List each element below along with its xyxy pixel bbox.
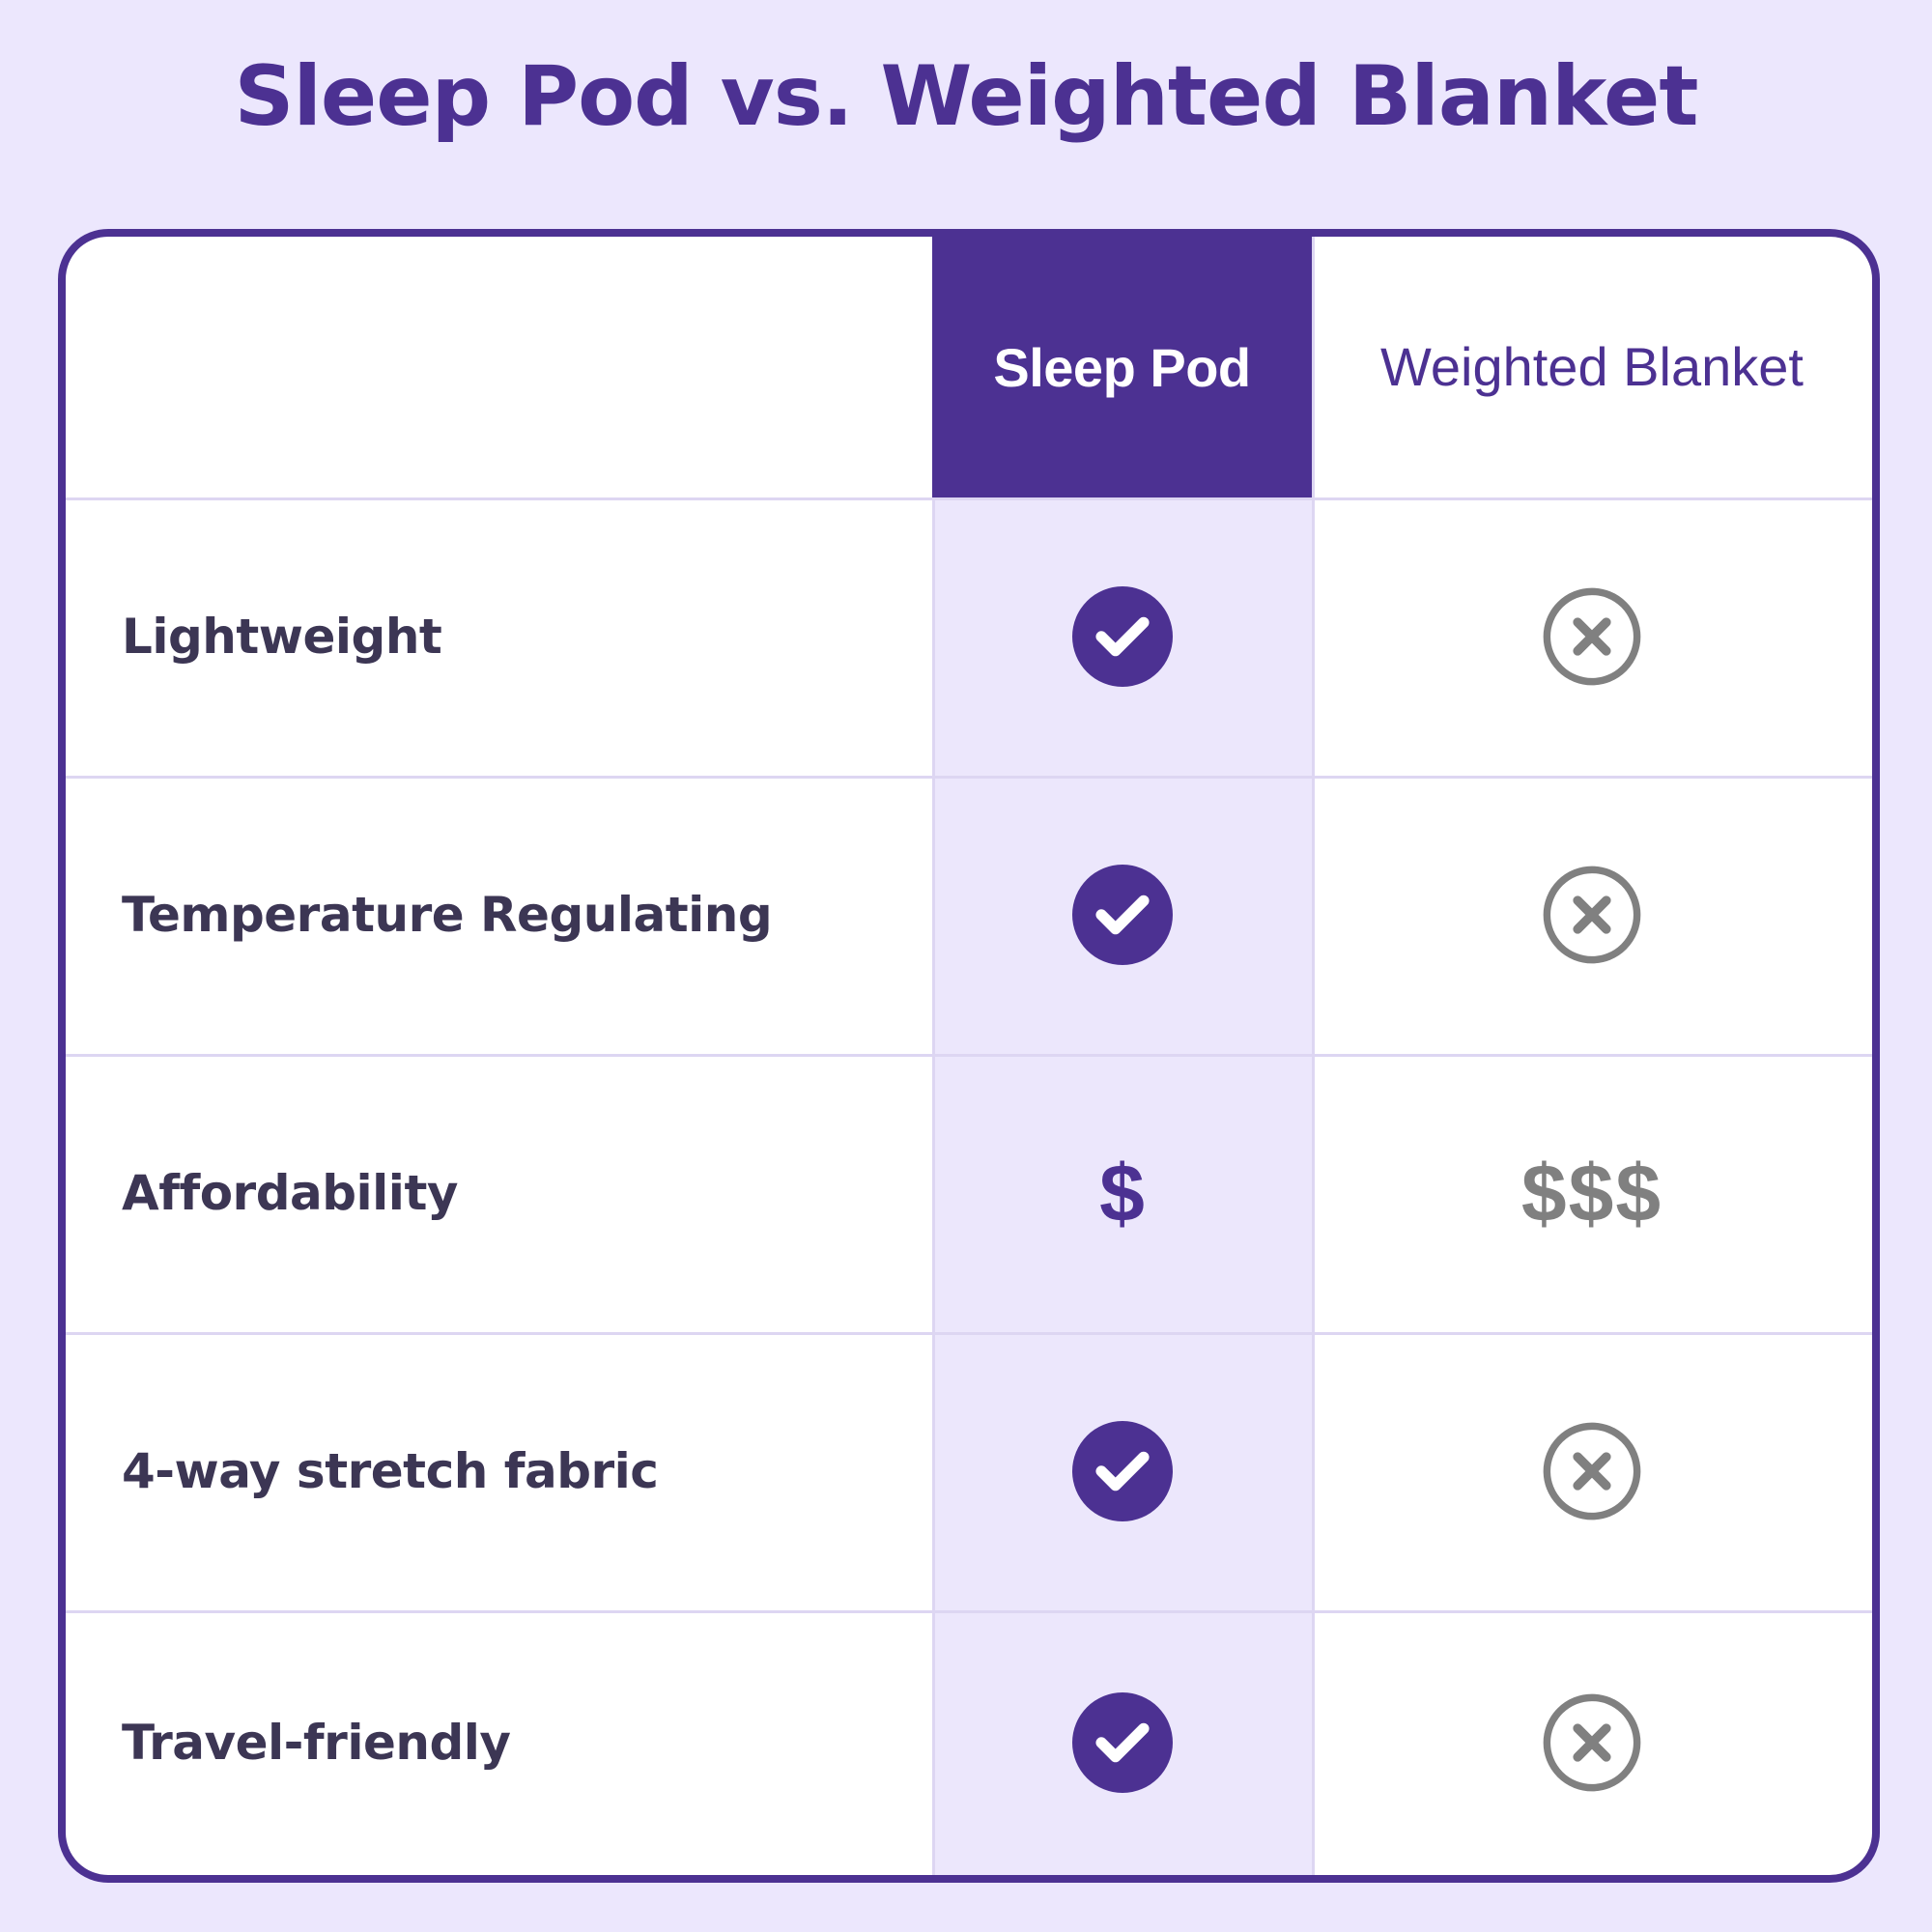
cell-weighted-blanket bbox=[1312, 497, 1872, 776]
cell-sleep-pod bbox=[932, 497, 1312, 776]
cell-sleep-pod bbox=[932, 776, 1312, 1054]
x-circle-outline-icon bbox=[1541, 864, 1643, 966]
price-indicator-weighted-blanket: $$$ bbox=[1521, 1147, 1662, 1240]
comparison-table: Sleep Pod Weighted Blanket Lightweight bbox=[58, 229, 1880, 1883]
cell-sleep-pod bbox=[932, 1610, 1312, 1875]
check-circle-filled-icon bbox=[1072, 586, 1173, 687]
feature-label: 4-way stretch fabric bbox=[66, 1332, 932, 1610]
column-header-weighted-blanket: Weighted Blanket bbox=[1312, 237, 1872, 497]
cell-weighted-blanket bbox=[1312, 1610, 1872, 1875]
column-header-sleep-pod: Sleep Pod bbox=[932, 237, 1312, 497]
table-grid: Sleep Pod Weighted Blanket Lightweight bbox=[66, 237, 1872, 1875]
comparison-infographic: Sleep Pod vs. Weighted Blanket Sleep Pod… bbox=[0, 0, 1932, 1932]
cell-sleep-pod bbox=[932, 1332, 1312, 1610]
feature-label: Affordability bbox=[66, 1054, 932, 1332]
cell-sleep-pod: $ bbox=[932, 1054, 1312, 1332]
cell-weighted-blanket bbox=[1312, 1332, 1872, 1610]
feature-label: Temperature Regulating bbox=[66, 776, 932, 1054]
cell-weighted-blanket bbox=[1312, 776, 1872, 1054]
feature-label: Lightweight bbox=[66, 497, 932, 776]
feature-label: Travel-friendly bbox=[66, 1610, 932, 1875]
x-circle-outline-icon bbox=[1541, 585, 1643, 688]
x-circle-outline-icon bbox=[1541, 1420, 1643, 1522]
check-circle-filled-icon bbox=[1072, 1692, 1173, 1793]
table-cells: Sleep Pod Weighted Blanket Lightweight bbox=[66, 237, 1872, 1875]
check-circle-filled-icon bbox=[1072, 865, 1173, 965]
price-indicator-sleep-pod: $ bbox=[1099, 1147, 1145, 1240]
page-title: Sleep Pod vs. Weighted Blanket bbox=[0, 39, 1932, 155]
cell-weighted-blanket: $$$ bbox=[1312, 1054, 1872, 1332]
x-circle-outline-icon bbox=[1541, 1691, 1643, 1794]
check-circle-filled-icon bbox=[1072, 1421, 1173, 1521]
